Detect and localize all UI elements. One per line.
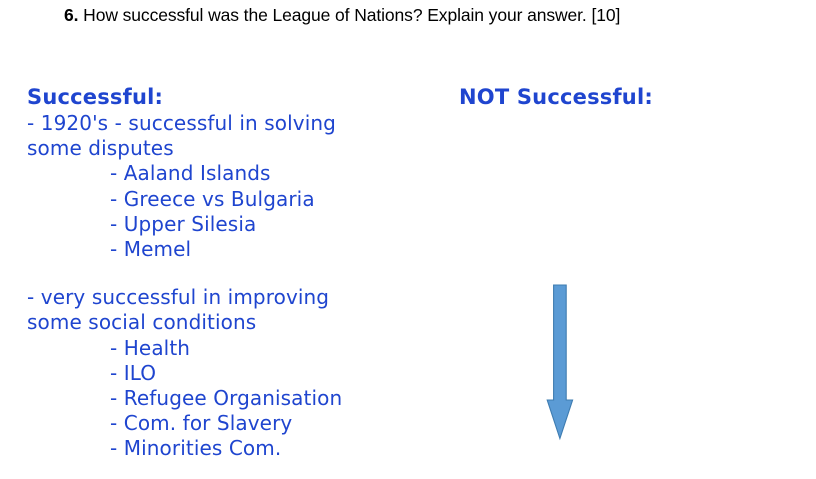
note-line: - Minorities Com. (27, 436, 447, 461)
note-line: some social conditions (27, 310, 447, 335)
note-line: - Upper Silesia (27, 212, 447, 237)
note-line: - Health (27, 336, 447, 361)
note-line: - 1920's - successful in solving (27, 111, 447, 136)
heading-successful: Successful: (27, 84, 447, 111)
note-line: - Greece vs Bulgaria (27, 187, 447, 212)
note-spacer (27, 262, 447, 285)
note-line: - Refugee Organisation (27, 386, 447, 411)
note-line: - Com. for Slavery (27, 411, 447, 436)
question-header: 6. How successful was the League of Nati… (64, 3, 804, 27)
note-line: - Aaland Islands (27, 161, 447, 186)
heading-not-successful: NOT Successful: (459, 84, 799, 111)
column-successful: Successful: - 1920's - successful in sol… (27, 84, 447, 462)
question-text: How successful was the League of Nations… (83, 5, 620, 25)
note-line: - very successful in improving (27, 285, 447, 310)
down-arrow-icon (545, 283, 575, 441)
column-not-successful: NOT Successful: (459, 84, 799, 111)
note-line: - ILO (27, 361, 447, 386)
note-line: some disputes (27, 136, 447, 161)
question-number: 6. (64, 5, 78, 25)
slide-canvas: 6. How successful was the League of Nati… (0, 0, 816, 479)
note-line: - Memel (27, 237, 447, 262)
